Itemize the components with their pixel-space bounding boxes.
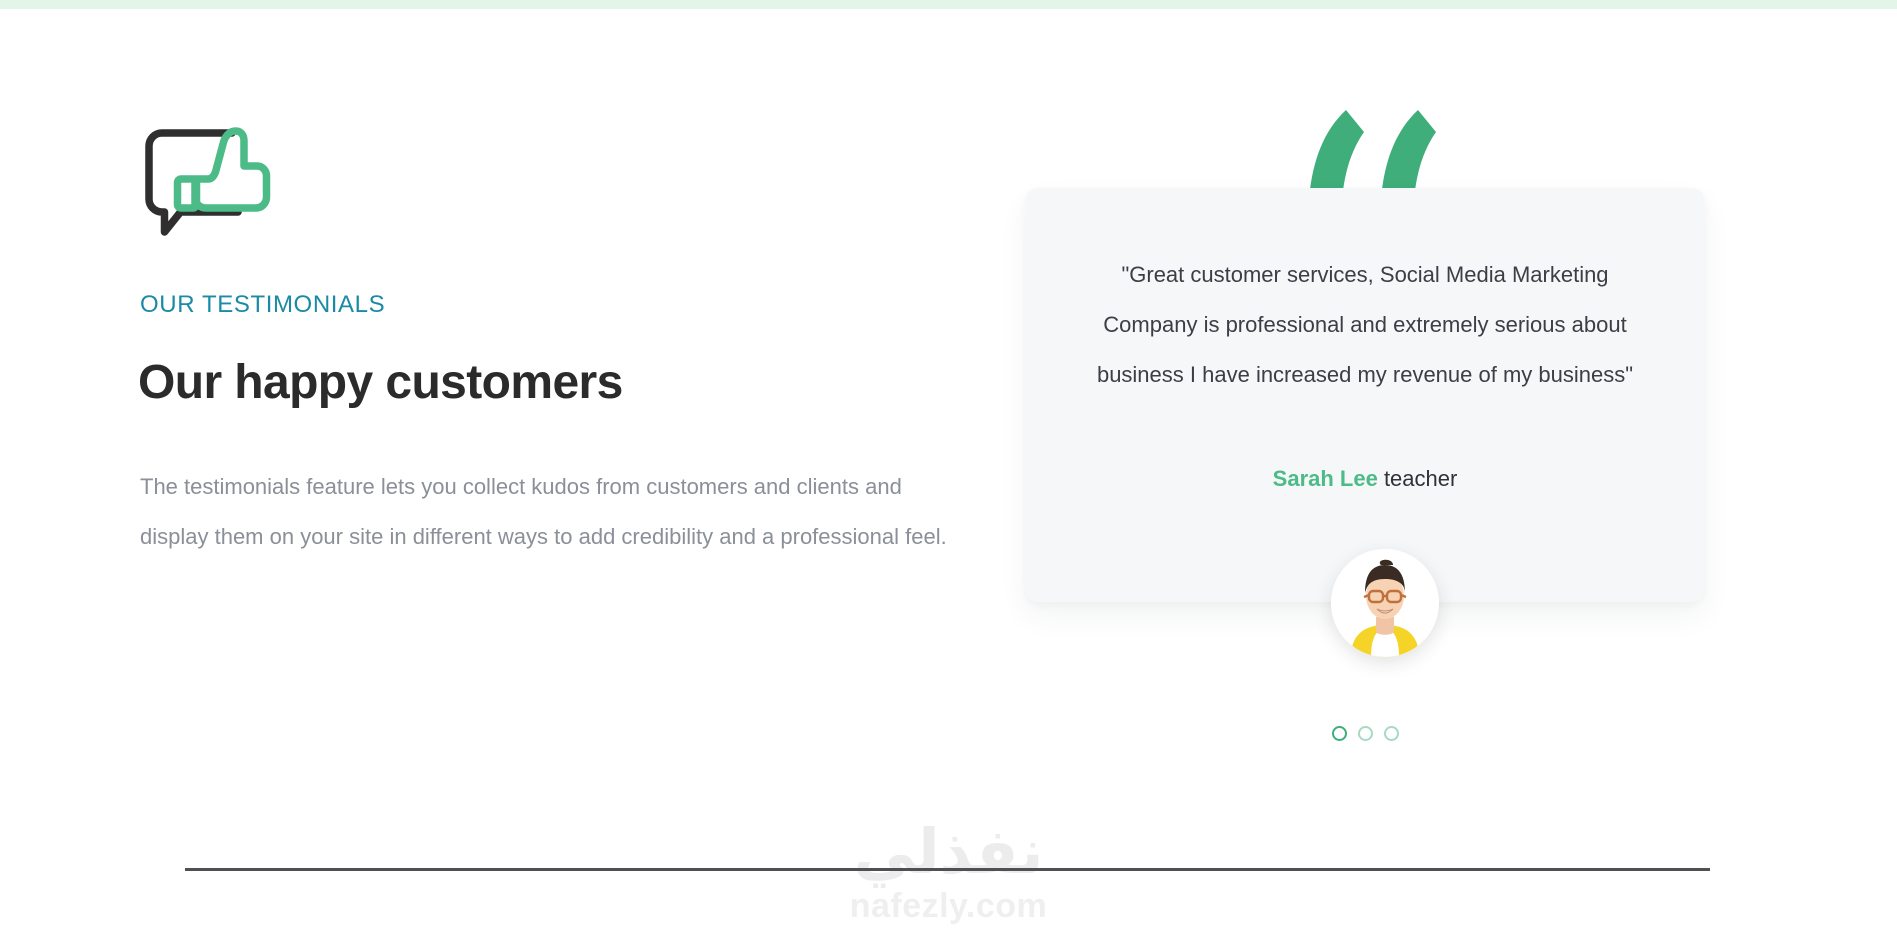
testimonial-quote: "Great customer services, Social Media M… [1078, 250, 1652, 400]
author-role: teacher [1378, 466, 1458, 491]
watermark-latin: nafezly.com [0, 886, 1897, 926]
testimonial-carousel: "Great customer services, Social Media M… [1026, 110, 1706, 750]
carousel-dot-1[interactable] [1332, 726, 1347, 741]
carousel-dot-3[interactable] [1384, 726, 1399, 741]
testimonial-card: "Great customer services, Social Media M… [1026, 188, 1704, 602]
avatar-photo [1331, 549, 1439, 657]
section-intro [140, 120, 960, 242]
carousel-dots[interactable] [1026, 726, 1704, 741]
section-eyebrow: OUR TESTIMONIALS [140, 291, 385, 319]
top-accent-band [0, 0, 1897, 9]
page-title: Our happy customers [138, 358, 623, 408]
carousel-dot-2[interactable] [1358, 726, 1373, 741]
avatar [1331, 549, 1439, 657]
thumbs-up-speech-bubble-icon [140, 120, 272, 242]
footer-divider [185, 868, 1710, 871]
testimonials-section: OUR TESTIMONIALS Our happy customers The… [0, 0, 1897, 939]
watermark: نفذلي nafezly.com [0, 820, 1897, 926]
section-description: The testimonials feature lets you collec… [140, 462, 950, 562]
watermark-arabic: نفذلي [0, 820, 1897, 886]
author-name: Sarah Lee [1273, 466, 1378, 491]
testimonial-author: Sarah Lee teacher [1026, 466, 1704, 492]
